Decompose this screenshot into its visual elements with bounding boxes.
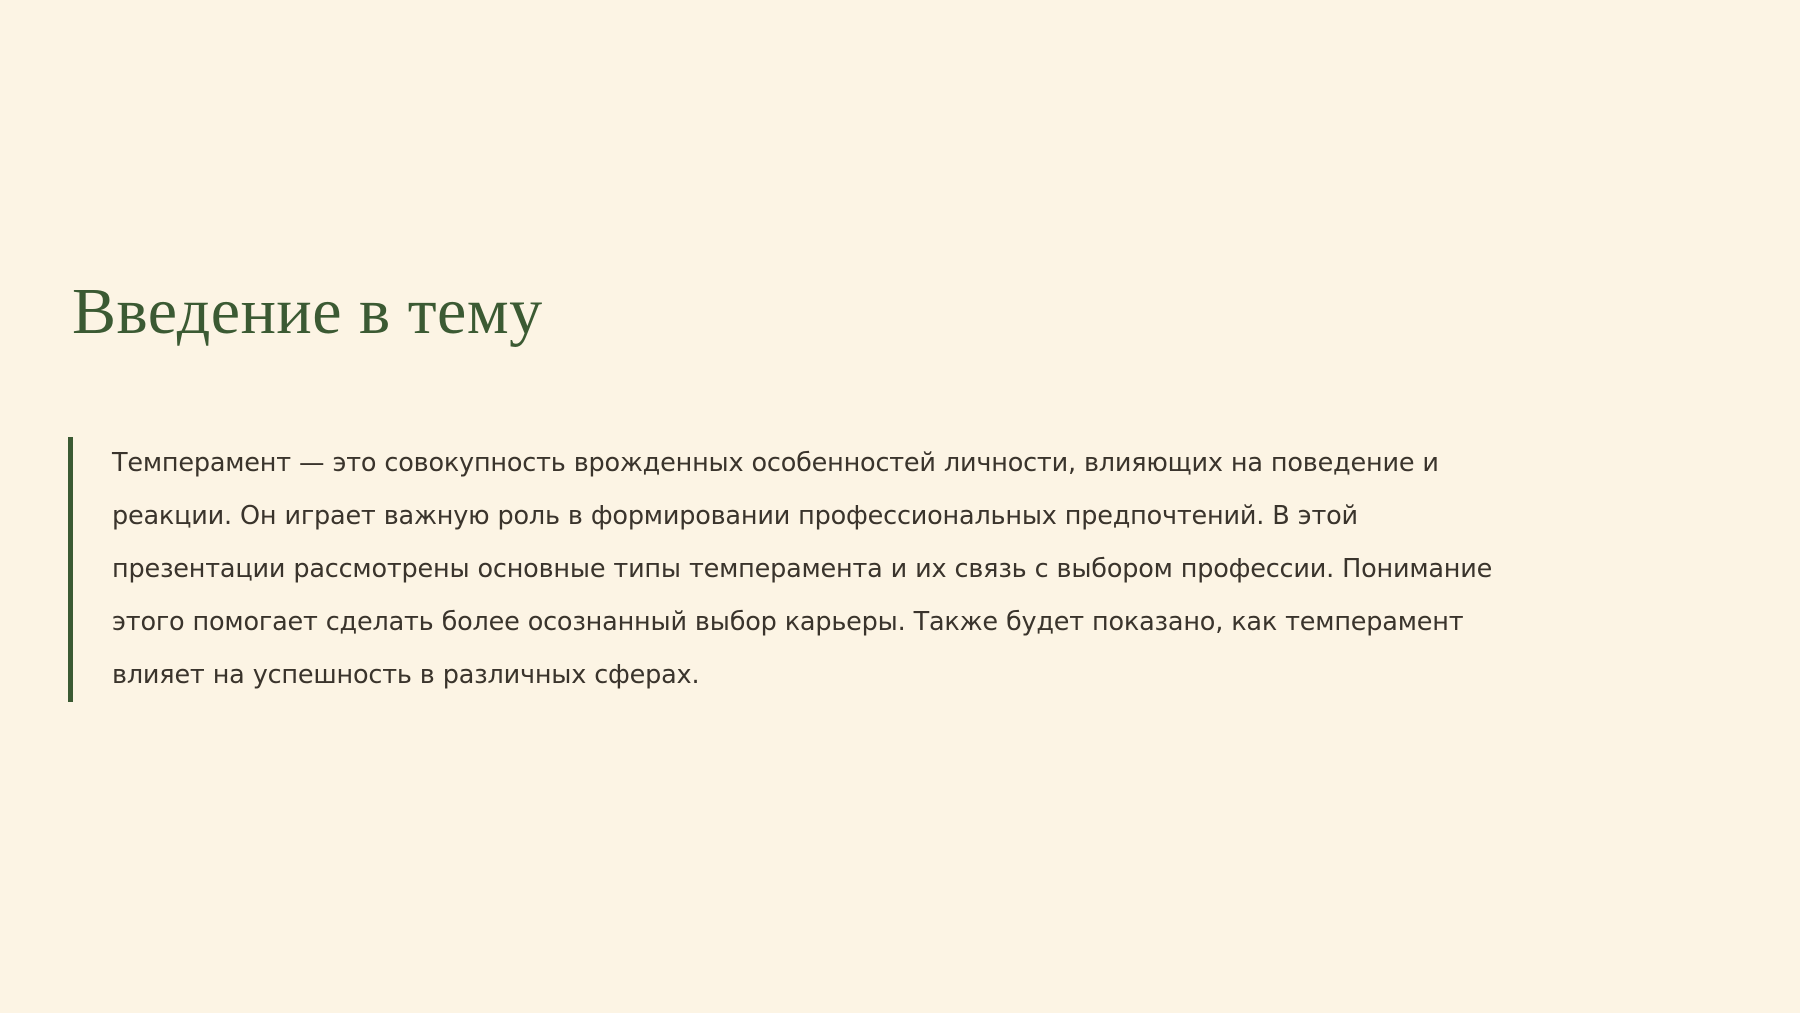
body-paragraph: Темперамент — это совокупность врожденны… xyxy=(73,437,1498,702)
body-callout-block: Темперамент — это совокупность врожденны… xyxy=(68,437,1498,702)
presentation-slide: Введение в тему Темперамент — это совоку… xyxy=(0,0,1800,1013)
page-title: Введение в тему xyxy=(72,277,543,346)
